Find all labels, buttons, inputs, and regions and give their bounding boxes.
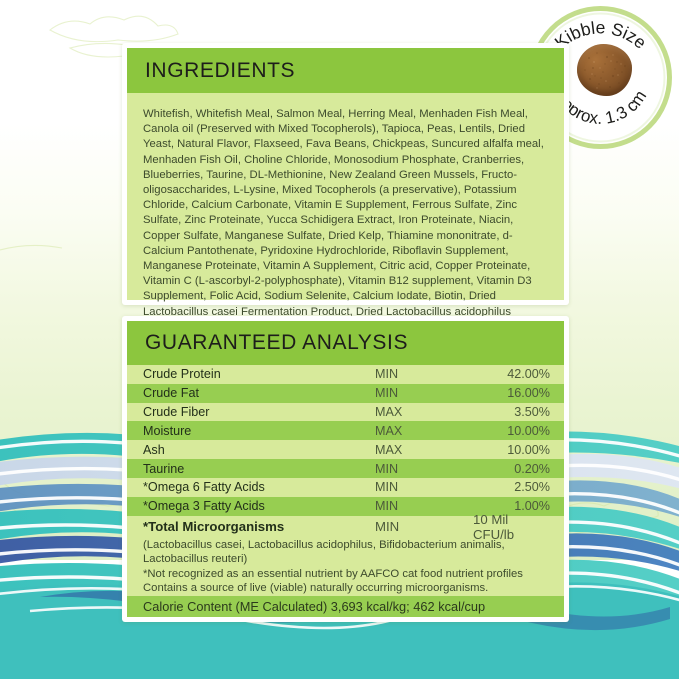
microorganisms-qualifier: MIN — [375, 519, 461, 534]
microorganisms-note-2: Lactobacillus reuteri) — [127, 552, 564, 567]
live-culture-note: Contains a source of live (viable) natur… — [127, 581, 564, 596]
guaranteed-analysis-title: GUARANTEED ANALYSIS — [145, 331, 408, 355]
nutrient-qualifier: MIN — [375, 462, 461, 476]
ingredients-panel: INGREDIENTS Whitefish, Whitefish Meal, S… — [122, 43, 569, 305]
table-row: Crude Fiber MAX 3.50% — [127, 403, 564, 422]
nutrient-value: 16.00% — [461, 386, 550, 400]
microorganisms-note-1: (Lactobacillus casei, Lactobacillus acid… — [127, 538, 564, 553]
nutrient-label: Crude Fiber — [143, 405, 375, 419]
nutrient-label: Crude Protein — [143, 367, 375, 381]
nutrient-qualifier: MIN — [375, 386, 461, 400]
nutrient-value: 10.00% — [461, 424, 550, 438]
nutrient-value: 3.50% — [461, 405, 550, 419]
table-row: Moisture MAX 10.00% — [127, 421, 564, 440]
nutrient-qualifier: MIN — [375, 480, 461, 494]
table-row: Crude Fat MIN 16.00% — [127, 384, 564, 403]
kibble-texture — [577, 44, 632, 96]
calorie-content-text: Calorie Content (ME Calculated) 3,693 kc… — [143, 599, 485, 614]
calorie-content-row: Calorie Content (ME Calculated) 3,693 kc… — [127, 596, 564, 617]
nutrient-qualifier: MAX — [375, 443, 461, 457]
table-row: Ash MAX 10.00% — [127, 440, 564, 459]
nutrient-value: 0.20% — [461, 462, 550, 476]
ingredients-body: Whitefish, Whitefish Meal, Salmon Meal, … — [127, 93, 564, 300]
microorganisms-label: *Total Microorganisms — [143, 519, 375, 534]
table-row: Taurine MIN 0.20% — [127, 459, 564, 478]
nutrient-value: 42.00% — [461, 367, 550, 381]
ingredients-list-text: Whitefish, Whitefish Meal, Salmon Meal, … — [143, 107, 548, 350]
nutrient-qualifier: MIN — [375, 367, 461, 381]
nutrient-qualifier: MIN — [375, 499, 461, 513]
nutrient-qualifier: MAX — [375, 424, 461, 438]
table-row: *Omega 6 Fatty Acids MIN 2.50% — [127, 478, 564, 497]
kibble-piece-icon — [577, 44, 632, 96]
nutrient-label: Crude Fat — [143, 386, 375, 400]
guaranteed-analysis-panel: GUARANTEED ANALYSIS Crude Protein MIN 42… — [122, 316, 569, 622]
nutrient-label: Taurine — [143, 462, 375, 476]
table-row-microorganisms: *Total Microorganisms MIN 10 Mil CFU/lb — [127, 516, 564, 538]
ingredients-title: INGREDIENTS — [145, 59, 295, 83]
aafco-disclaimer: *Not recognized as an essential nutrient… — [127, 567, 564, 582]
nutrient-value: 10.00% — [461, 443, 550, 457]
nutrient-label: Moisture — [143, 424, 375, 438]
nutrient-label: *Omega 3 Fatty Acids — [143, 499, 375, 513]
nutrient-value: 2.50% — [461, 480, 550, 494]
guaranteed-analysis-header: GUARANTEED ANALYSIS — [127, 321, 564, 365]
nutrient-qualifier: MAX — [375, 405, 461, 419]
table-row: Crude Protein MIN 42.00% — [127, 365, 564, 384]
guaranteed-analysis-table: Crude Protein MIN 42.00% Crude Fat MIN 1… — [127, 365, 564, 617]
ingredients-header: INGREDIENTS — [127, 48, 564, 93]
nutrient-label: Ash — [143, 443, 375, 457]
nutrient-label: *Omega 6 Fatty Acids — [143, 480, 375, 494]
